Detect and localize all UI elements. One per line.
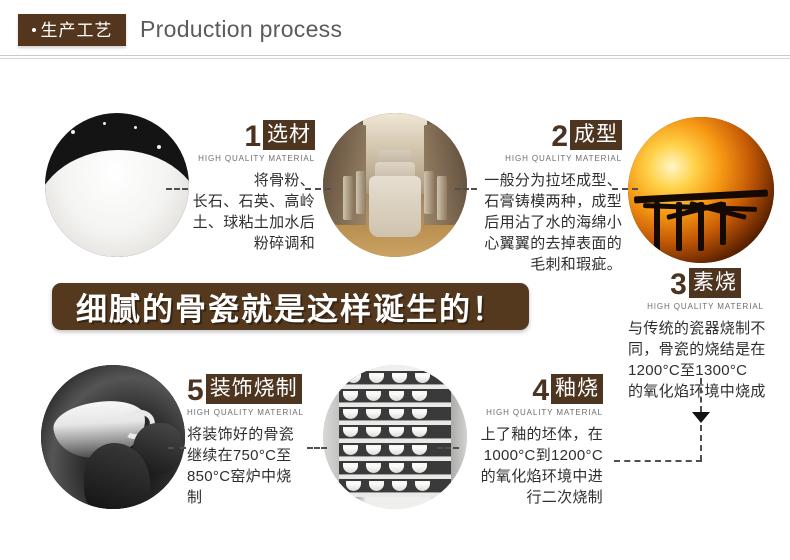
bullet-icon: [32, 28, 36, 32]
step-3-body: 与传统的瓷器烧制不 同，骨瓷的烧结是在 1200°C至1300°C 的氧化焰环境…: [628, 318, 783, 402]
step-2-line-2: 石膏铸模两种，成型: [470, 191, 622, 212]
highlight-banner-text: 细腻的骨瓷就是这样诞生的！: [76, 284, 505, 329]
step-3-line-3: 1200°C至1300°C: [628, 360, 783, 381]
step-4-body: 上了釉的坯体，在 1000°C到1200°C 的氧化焰环境中进 行二次烧制: [455, 424, 603, 508]
connector-photo4-to-step5: [307, 447, 327, 449]
connector-step4-left: [437, 447, 459, 449]
step-1-line-4: 粉碎调和: [183, 233, 315, 254]
step-1-label: 选材: [263, 120, 315, 150]
arrow-down-icon: [692, 412, 710, 423]
step-3-line-2: 同，骨瓷的烧结是在: [628, 339, 783, 360]
step-4-subtitle: HIGH QUALITY MATERIAL: [455, 408, 603, 417]
step-2-subtitle: HIGH QUALITY MATERIAL: [470, 154, 622, 163]
step-5-line-2: 继续在750°C至: [187, 445, 327, 466]
step-1-line-2: 长石、石英、高岭: [183, 191, 315, 212]
step-4-number: 4: [532, 378, 551, 404]
connector-photo2-to-step2: [455, 188, 477, 190]
photo-bowls-rack: [323, 365, 467, 509]
step-1-number: 1: [244, 124, 263, 150]
step-3-heading: 3 素烧: [628, 268, 783, 298]
step-1: 1 选材 HIGH QUALITY MATERIAL 将骨粉、 长石、石英、高岭…: [183, 120, 315, 254]
step-5-line-1: 将装饰好的骨瓷: [187, 424, 327, 445]
connector-to-step4: [614, 460, 702, 462]
step-2-line-4: 心翼翼的去掉表面的: [470, 233, 622, 254]
step-5: 5 装饰烧制 HIGH QUALITY MATERIAL 将装饰好的骨瓷 继续在…: [187, 374, 327, 508]
step-5-heading: 5 装饰烧制: [187, 374, 327, 404]
connector-photo3-down-lower: [700, 425, 702, 461]
connector-step1-left: [166, 188, 188, 190]
photo-clay-forming: [323, 113, 467, 257]
photo-kiln-fire: [628, 117, 774, 263]
highlight-banner: 细腻的骨瓷就是这样诞生的！: [52, 283, 529, 330]
connector-step5-left: [168, 447, 186, 449]
section-badge-label: 生产工艺: [41, 22, 113, 39]
step-4: 4 釉烧 HIGH QUALITY MATERIAL 上了釉的坯体，在 1000…: [455, 374, 603, 508]
header-divider: [0, 55, 790, 56]
step-4-line-3: 的氧化焰环境中进: [455, 466, 603, 487]
step-3-subtitle: HIGH QUALITY MATERIAL: [628, 302, 783, 311]
connector-photo3-down-upper: [700, 378, 702, 412]
step-5-number: 5: [187, 378, 206, 404]
step-1-line-1: 将骨粉、: [183, 170, 315, 191]
header-divider-secondary: [0, 58, 790, 59]
photo-bone-powder: [45, 113, 189, 257]
connector-step1-to-photo2: [305, 188, 331, 190]
step-5-body: 将装饰好的骨瓷 继续在750°C至 850°C窑炉中烧 制: [187, 424, 327, 508]
step-5-label: 装饰烧制: [206, 374, 302, 404]
step-4-line-4: 行二次烧制: [455, 487, 603, 508]
step-4-heading: 4 釉烧: [455, 374, 603, 404]
page-title: Production process: [140, 16, 342, 43]
photo-decorating-hands: [41, 365, 185, 509]
step-2-heading: 2 成型: [470, 120, 622, 150]
step-3: 3 素烧 HIGH QUALITY MATERIAL 与传统的瓷器烧制不 同，骨…: [628, 268, 783, 402]
section-badge: 生产工艺: [18, 14, 126, 46]
step-4-line-2: 1000°C到1200°C: [455, 445, 603, 466]
step-1-body: 将骨粉、 长石、石英、高岭 土、球粘土加水后 粉碎调和: [183, 170, 315, 254]
step-2-number: 2: [551, 124, 570, 150]
step-2-line-3: 后用沾了水的海绵小: [470, 212, 622, 233]
infographic-page: 生产工艺 Production process: [0, 0, 790, 560]
step-4-line-1: 上了釉的坯体，在: [455, 424, 603, 445]
step-3-line-4: 的氧化焰环境中烧成: [628, 381, 783, 402]
step-1-line-3: 土、球粘土加水后: [183, 212, 315, 233]
step-3-number: 3: [670, 272, 689, 298]
step-5-subtitle: HIGH QUALITY MATERIAL: [187, 408, 327, 417]
step-1-subtitle: HIGH QUALITY MATERIAL: [183, 154, 315, 163]
connector-step2-to-photo3: [612, 188, 638, 190]
step-2-label: 成型: [570, 120, 622, 150]
step-3-line-1: 与传统的瓷器烧制不: [628, 318, 783, 339]
step-2-body: 一般分为拉坯成型、 石膏铸模两种，成型 后用沾了水的海绵小 心翼翼的去掉表面的 …: [470, 170, 622, 275]
step-1-heading: 1 选材: [183, 120, 315, 150]
step-5-line-3: 850°C窑炉中烧: [187, 466, 327, 487]
step-2-line-1: 一般分为拉坯成型、: [470, 170, 622, 191]
step-2: 2 成型 HIGH QUALITY MATERIAL 一般分为拉坯成型、 石膏铸…: [470, 120, 622, 275]
step-4-label: 釉烧: [551, 374, 603, 404]
step-2-line-5: 毛刺和瑕疵。: [470, 254, 622, 275]
step-5-line-4: 制: [187, 487, 327, 508]
step-3-label: 素烧: [689, 268, 741, 298]
